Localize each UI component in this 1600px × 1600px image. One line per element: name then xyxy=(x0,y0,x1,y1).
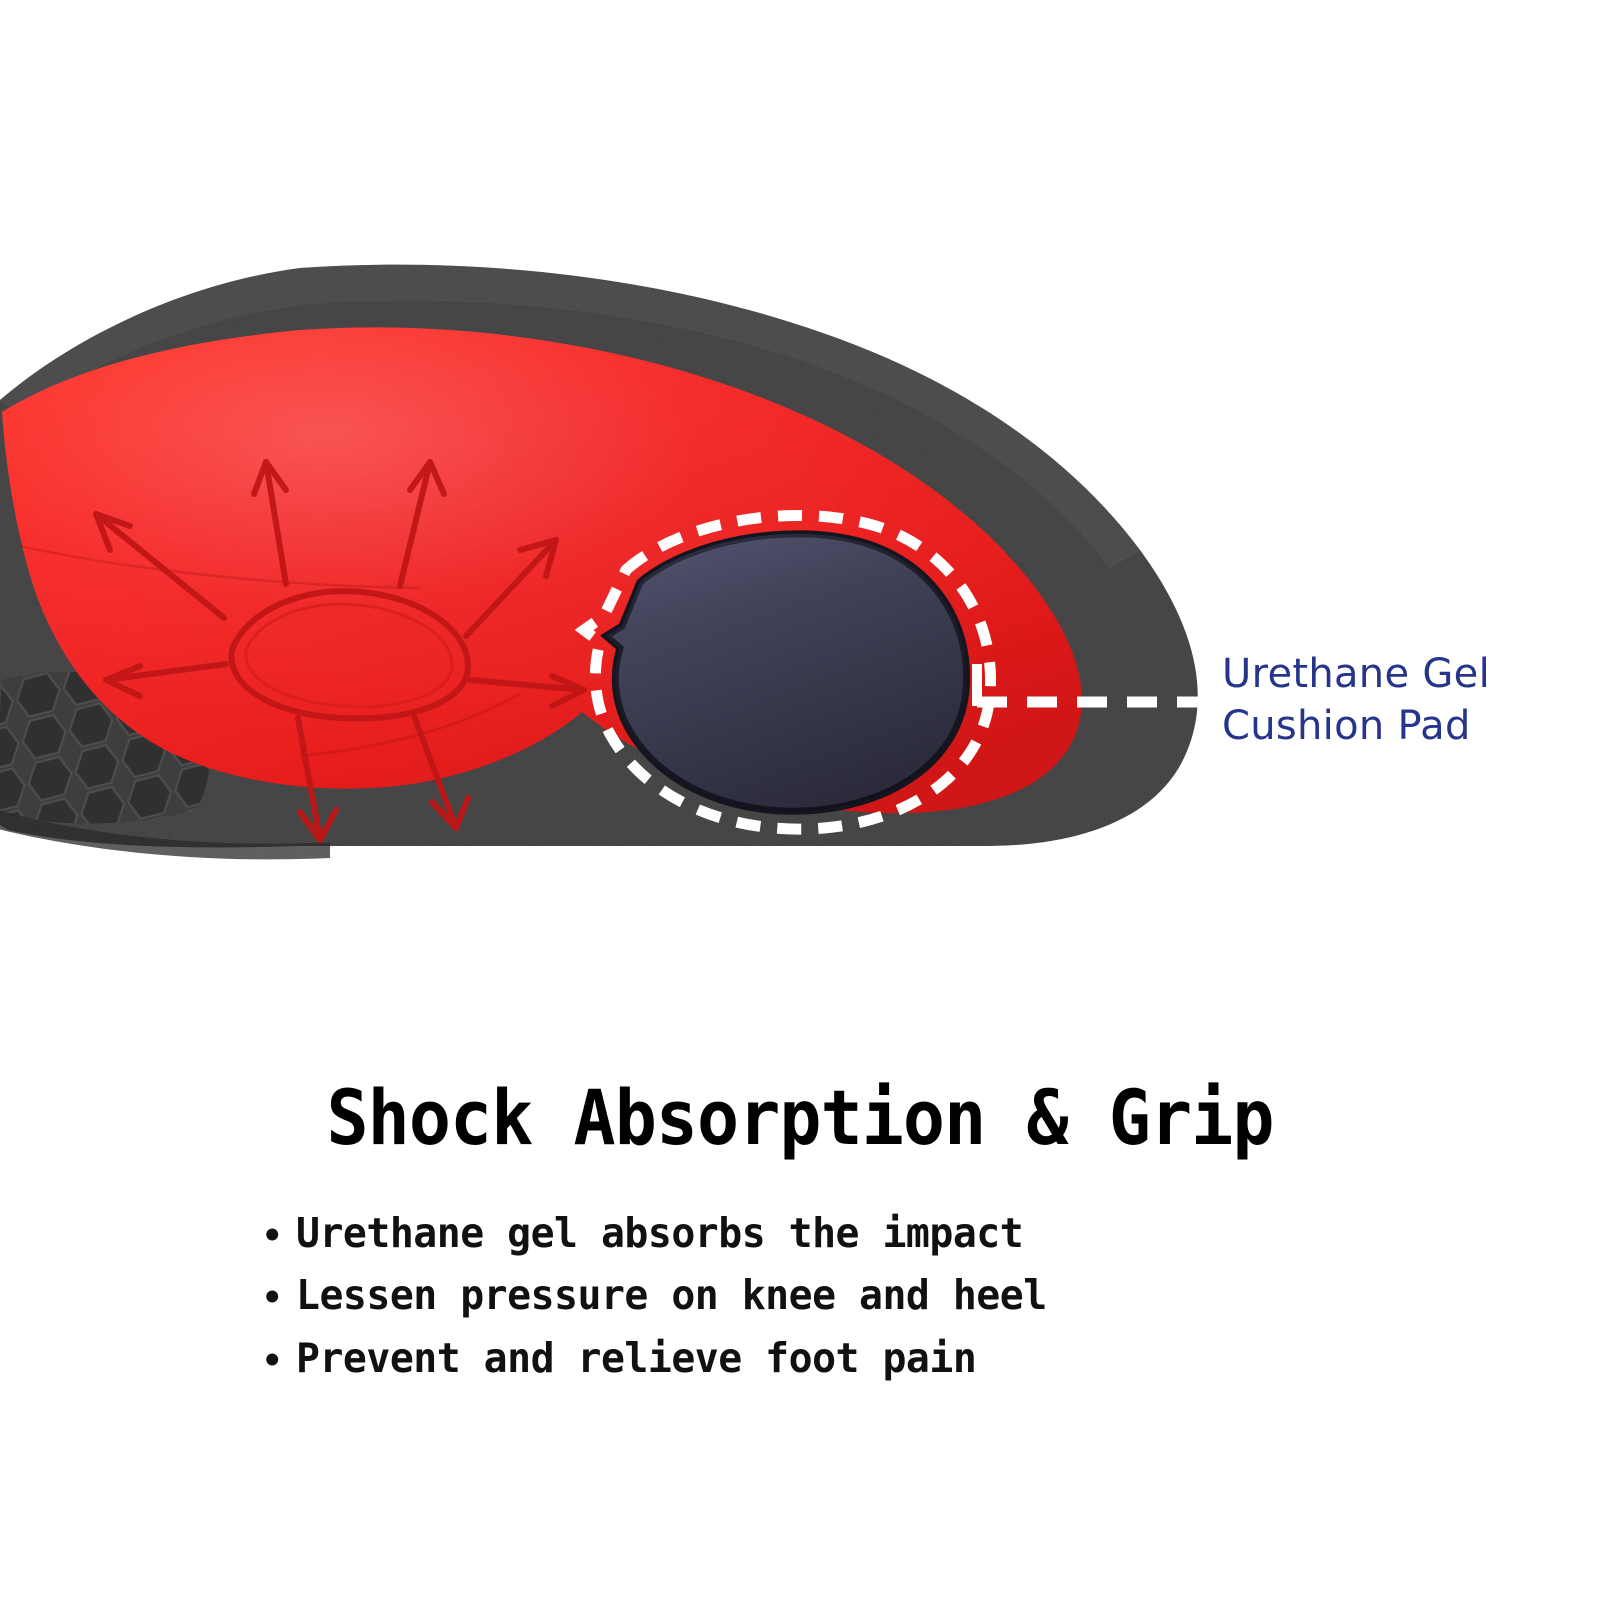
infographic-canvas: Urethane Gel Cushion Pad Shock Absorptio… xyxy=(0,0,1600,1600)
callout-label-line-2: Cushion Pad xyxy=(1222,700,1582,752)
list-item: • Prevent and relieve foot pain xyxy=(262,1327,1600,1389)
page-title: Shock Absorption & Grip xyxy=(64,1080,1536,1156)
bullet-marker-icon: • xyxy=(262,1281,296,1315)
list-item-label: Urethane gel absorbs the impact xyxy=(296,1202,1023,1264)
list-item-label: Prevent and relieve foot pain xyxy=(296,1327,976,1389)
insole-cutaway-diagram xyxy=(0,250,1250,930)
feature-bullet-list: • Urethane gel absorbs the impact • Less… xyxy=(0,1202,1600,1389)
list-item-label: Lessen pressure on knee and heel xyxy=(296,1264,1047,1326)
callout-label-urethane-gel-cushion-pad: Urethane Gel Cushion Pad xyxy=(1222,648,1582,752)
bullet-marker-icon: • xyxy=(262,1219,296,1253)
feature-text-block: Shock Absorption & Grip • Urethane gel a… xyxy=(0,1080,1600,1389)
bullet-marker-icon: • xyxy=(262,1344,296,1378)
callout-label-line-1: Urethane Gel xyxy=(1222,648,1582,700)
list-item: • Urethane gel absorbs the impact xyxy=(262,1202,1600,1264)
list-item: • Lessen pressure on knee and heel xyxy=(262,1264,1600,1326)
